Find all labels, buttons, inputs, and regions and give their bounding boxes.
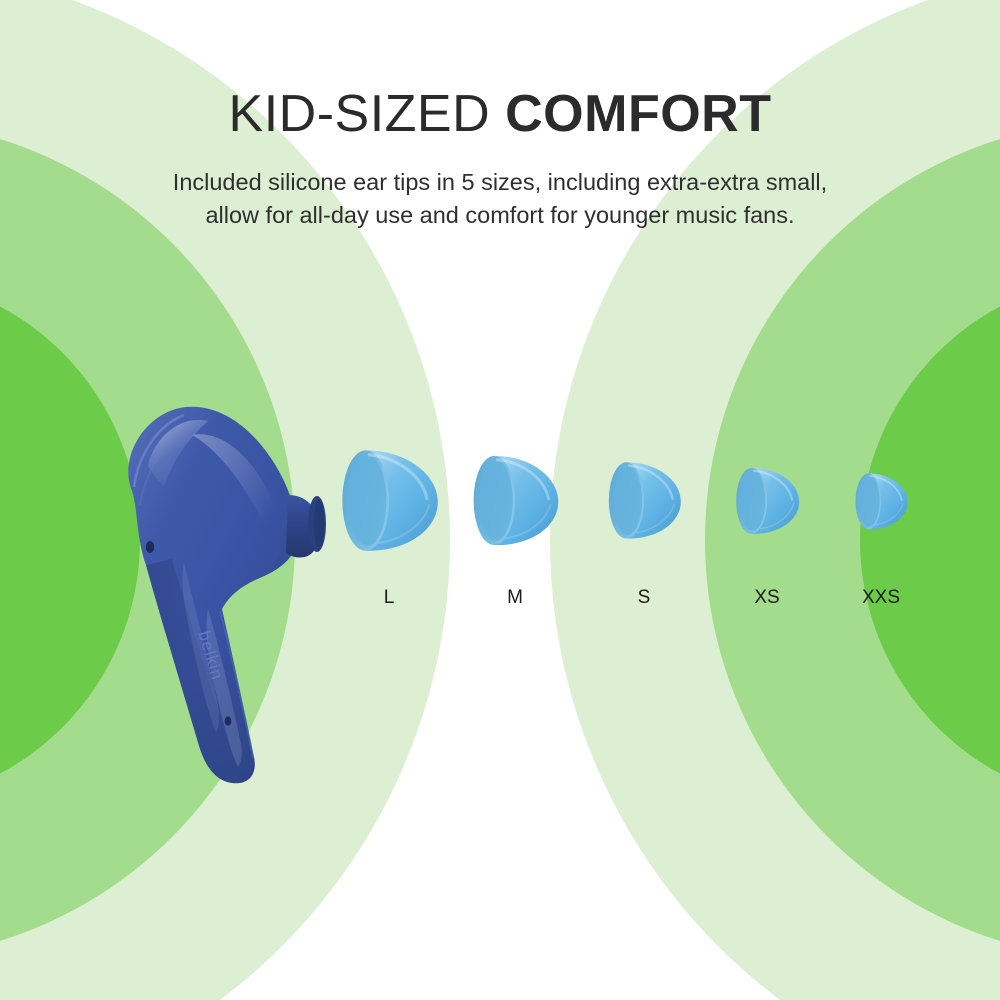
- earbud-product-image: belkin: [80, 395, 350, 795]
- eartip-L: [336, 446, 442, 554]
- page-subtitle-line-1: Included silicone ear tips in 5 sizes, i…: [0, 166, 1000, 199]
- eartip-XXS: [852, 471, 910, 531]
- page-subtitle-line-2: allow for all-day use and comfort for yo…: [0, 199, 1000, 232]
- product-feature-graphic: KID-SIZED COMFORT Included silicone ear …: [0, 0, 1000, 1000]
- header-block: KID-SIZED COMFORT Included silicone ear …: [0, 0, 1000, 233]
- page-title-light: KID-SIZED: [229, 85, 491, 143]
- microphone-hole-top: [146, 541, 154, 553]
- eartip-label-XXS: XXS: [812, 588, 950, 607]
- earbud-nozzle: [286, 495, 326, 558]
- page-title-bold: COMFORT: [505, 85, 771, 143]
- page-title: KID-SIZED COMFORT: [0, 88, 1000, 140]
- microphone-hole-stem: [225, 716, 232, 725]
- page-subtitle: Included silicone ear tips in 5 sizes, i…: [0, 166, 1000, 233]
- eartip-M: [468, 452, 562, 548]
- eartip-XS: [732, 465, 802, 536]
- eartip-S: [604, 459, 684, 541]
